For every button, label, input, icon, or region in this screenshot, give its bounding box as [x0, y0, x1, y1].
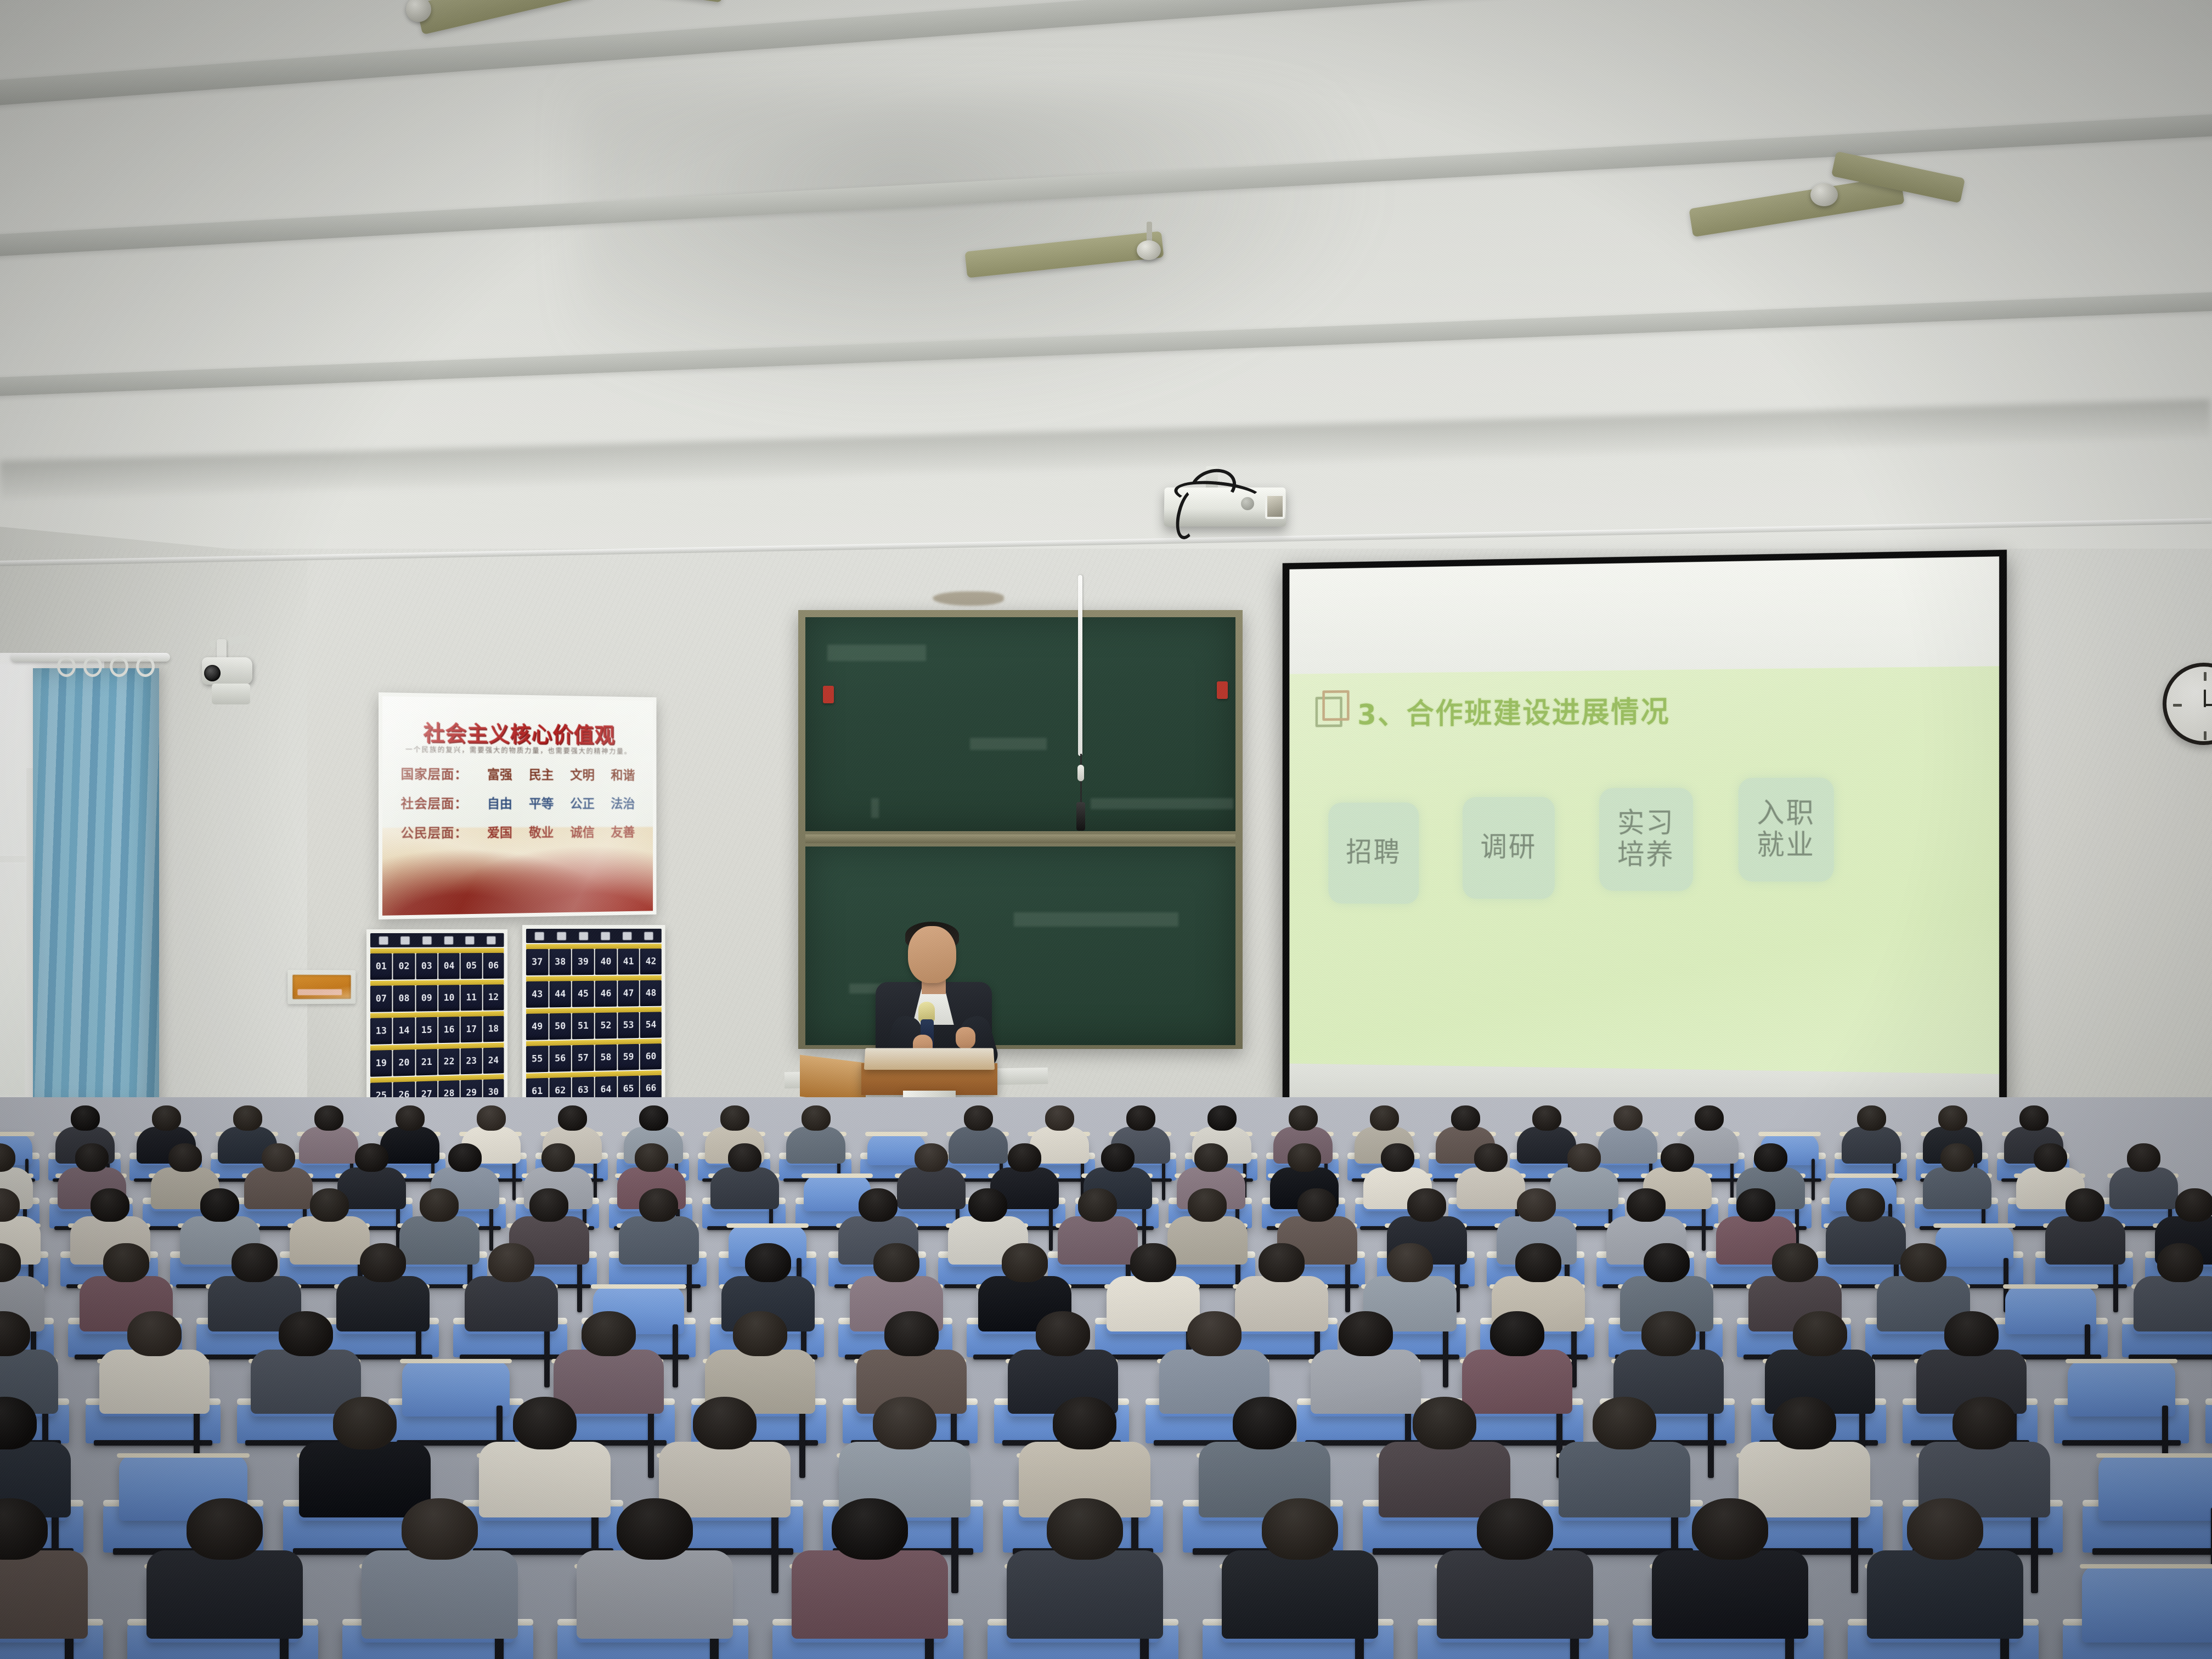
audience-head: [1233, 1397, 1297, 1449]
curtain-grommet: [110, 656, 128, 677]
audience-head: [360, 1243, 405, 1282]
student-chair[interactable]: [2082, 1566, 2212, 1643]
pocket-row: 010203040506: [370, 948, 504, 980]
pocket-cell-row: 495051525354: [526, 1012, 662, 1040]
step-label-line2: 培养: [1617, 839, 1675, 871]
audience-head: [720, 1105, 749, 1131]
audience-torso: [1559, 1442, 1690, 1517]
audience-head: [1002, 1243, 1047, 1282]
audience-head: [448, 1143, 482, 1172]
audience-head: [1773, 1397, 1837, 1449]
desk-frame-leg: [2031, 1508, 2038, 1593]
audience-head: [1339, 1311, 1392, 1356]
audience-head: [1627, 1188, 1666, 1222]
audience-head: [1036, 1311, 1090, 1356]
audience-torso: [1457, 1167, 1525, 1209]
audience-head: [1857, 1105, 1886, 1131]
poster-value: 公正: [565, 793, 600, 812]
audience-torso: [465, 1276, 558, 1331]
speaker-right-hand: [956, 1027, 975, 1049]
audience-head: [2157, 1243, 2203, 1282]
audience-head: [1517, 1188, 1556, 1222]
audience-head: [1736, 1188, 1775, 1222]
desk-frame-bar: [2092, 1548, 2212, 1555]
blackboard: [798, 610, 1243, 1049]
audience-torso: [1739, 1442, 1870, 1517]
desk-frame-leg: [1443, 1324, 1448, 1387]
pocket-slot[interactable]: 15: [416, 1017, 437, 1043]
pocket-slot[interactable]: 57: [572, 1045, 594, 1071]
pocket-row: 434445464748: [526, 975, 662, 1008]
audience-torso: [1842, 1127, 1901, 1164]
audience-head: [1370, 1105, 1399, 1131]
desk-frame-leg: [799, 1406, 805, 1479]
audience-head: [488, 1243, 534, 1282]
audience-head: [1188, 1188, 1227, 1222]
audience-head: [1661, 1143, 1694, 1172]
audience-head: [127, 1311, 181, 1356]
blackboard-clip-right: [1217, 681, 1228, 699]
wall-plaque: [287, 970, 356, 1005]
audience-head: [802, 1105, 831, 1131]
plaque-band: [297, 989, 342, 996]
student-chair[interactable]: [2005, 1286, 2096, 1334]
camera-lens-icon: [204, 665, 221, 681]
student-chair[interactable]: [2098, 1455, 2212, 1521]
audience-head: [1938, 1105, 1967, 1131]
poster-tier-label: 社会层面：: [401, 793, 482, 812]
audience-head: [728, 1143, 761, 1172]
slide-title: 3、合作班建设进展情况: [1357, 688, 1670, 732]
pocket-slot[interactable]: 24: [483, 1047, 504, 1074]
audience-head: [75, 1143, 109, 1172]
curtain-grommet: [136, 656, 155, 677]
audience-torso: [1007, 1550, 1163, 1639]
pocket-slot[interactable]: 19: [370, 1050, 392, 1077]
audience-head: [1008, 1143, 1041, 1172]
desk-frame-leg: [771, 1508, 778, 1593]
desk-frame-leg: [648, 1406, 654, 1479]
pocket-slot[interactable]: 17: [461, 1017, 482, 1043]
audience-head: [617, 1498, 693, 1560]
audience-head: [2019, 1105, 2049, 1131]
audience-torso: [897, 1167, 966, 1209]
pocket-slot[interactable]: 55: [526, 1046, 548, 1073]
audience-head: [2066, 1188, 2104, 1222]
audience-torso: [299, 1127, 358, 1164]
pocket-slot[interactable]: 03: [416, 953, 437, 979]
pocket-cell-row: 434445464748: [526, 980, 662, 1008]
audience-torso: [949, 1127, 1008, 1164]
audience-head: [639, 1188, 678, 1222]
pocket-slot[interactable]: 01: [370, 953, 392, 980]
slide-step-box-recruit: 招聘: [1328, 803, 1419, 904]
pocket-slot[interactable]: 51: [572, 1013, 594, 1039]
pocket-slot[interactable]: 50: [549, 1013, 571, 1040]
audience-head: [314, 1105, 343, 1131]
audience-torso: [1826, 1216, 1906, 1264]
presentation-slide: 3、合作班建设进展情况 招聘 调研 实习 培养 入职 就业: [1289, 666, 1999, 1074]
step-label-line2: 就业: [1757, 830, 1815, 862]
pocket-row: 192021222324: [370, 1043, 504, 1077]
audience-head: [1900, 1243, 1946, 1282]
pocket-slot[interactable]: 44: [549, 981, 571, 1007]
window-curtain[interactable]: [33, 668, 159, 1113]
pocket-row: 495051525354: [526, 1007, 662, 1040]
audience-head: [1387, 1243, 1432, 1282]
audience-head: [582, 1311, 635, 1356]
pocket-slot[interactable]: 54: [640, 1012, 662, 1038]
pocket-cell-row: 555657585960: [526, 1043, 662, 1073]
pocket-slot[interactable]: 53: [618, 1012, 639, 1039]
audience-head: [1262, 1498, 1338, 1560]
audience-head: [884, 1311, 938, 1356]
audience-head: [1940, 1143, 1974, 1172]
audience-head: [1846, 1188, 1885, 1222]
desk-frame-leg: [1851, 1508, 1858, 1593]
audience-head: [964, 1105, 993, 1131]
desk-frame-leg: [577, 1258, 582, 1312]
audience-head: [1474, 1143, 1508, 1172]
pocket-slot[interactable]: 60: [640, 1043, 662, 1070]
audience-torso: [1462, 1350, 1573, 1414]
poster-tier-label: 国家层面：: [401, 763, 482, 782]
poster-subtitle: 一个民族的复兴，需要强大的物质力量，也需要强大的精神力量。: [382, 743, 653, 756]
desk-frame-leg: [951, 1508, 958, 1593]
pocket-slot[interactable]: 13: [370, 1018, 392, 1045]
audience-head: [1754, 1143, 1787, 1172]
screen-surface: 3、合作班建设进展情况 招聘 调研 实习 培养 入职 就业: [1289, 556, 1999, 1124]
step-label-line1: 实习: [1617, 808, 1675, 839]
audience-head: [558, 1105, 587, 1131]
pocket-board-header: [370, 933, 504, 947]
audience-head: [477, 1105, 506, 1131]
step-label: 调研: [1480, 832, 1537, 864]
pull-cord-weight[interactable]: [1076, 802, 1085, 831]
audience-head: [1187, 1311, 1241, 1356]
core-values-poster: 社会主义核心价值观 一个民族的复兴，需要强大的物质力量，也需要强大的精神力量。 …: [379, 692, 656, 919]
audience-head: [733, 1311, 787, 1356]
audience-head: [103, 1243, 149, 1282]
pocket-row: 070809101112: [370, 980, 504, 1012]
audience-head: [168, 1143, 202, 1172]
audience-head: [1593, 1397, 1657, 1449]
audience-head: [279, 1311, 332, 1356]
pocket-slot[interactable]: 37: [526, 949, 548, 975]
audience-torso: [1437, 1550, 1593, 1639]
audience-head: [1053, 1397, 1117, 1449]
audience-head: [233, 1105, 262, 1131]
pocket-board-header: [526, 929, 662, 943]
audience-torso: [1107, 1276, 1200, 1331]
audience-torso: [399, 1216, 479, 1264]
desk-frame-leg: [544, 1324, 550, 1387]
audience-head: [1207, 1105, 1237, 1131]
audience-head: [1101, 1143, 1135, 1172]
audience-head: [635, 1143, 668, 1172]
pocket-slot[interactable]: 45: [572, 981, 594, 1007]
audience-torso: [290, 1216, 370, 1264]
curtain-grommet: [57, 656, 76, 677]
audience-torso: [2045, 1216, 2125, 1264]
poster-value: 富强: [482, 764, 517, 783]
audience-head: [1772, 1243, 1818, 1282]
poster-value: 平等: [524, 793, 559, 812]
audience-head: [1288, 1143, 1321, 1172]
audience-head: [1613, 1105, 1643, 1131]
window-mullion-v: [26, 768, 33, 1097]
audience-torso: [1867, 1550, 2023, 1639]
audience-torso: [0, 1550, 88, 1639]
audience-head: [262, 1143, 295, 1172]
desk-frame-leg: [1812, 1159, 1815, 1200]
pocket-slot[interactable]: 05: [461, 953, 482, 979]
pocket-cell-row: 070809101112: [370, 984, 504, 1012]
audience-head: [832, 1498, 908, 1560]
screen-blank-top: [1289, 556, 1999, 679]
audience-head: [1407, 1188, 1446, 1222]
audience-head: [1078, 1188, 1117, 1222]
audience-torso: [1311, 1350, 1421, 1414]
audience-torso: [792, 1550, 948, 1639]
pocket-slot[interactable]: 39: [572, 949, 594, 975]
desk-frame-leg: [489, 1204, 493, 1251]
audience-torso: [710, 1167, 779, 1209]
pocket-slot[interactable]: 12: [483, 984, 504, 1010]
desk-frame-leg: [2113, 1258, 2118, 1312]
desk-frame-leg: [1345, 1258, 1350, 1312]
audience-head: [1047, 1498, 1123, 1560]
student-chair[interactable]: [1936, 1225, 2013, 1267]
security-camera-base: [212, 684, 250, 704]
phone-pocket-organizer-right[interactable]: 3738394041424344454647484950515253545556…: [522, 925, 665, 1118]
audience-head: [232, 1243, 277, 1282]
audience-head: [873, 1397, 937, 1449]
pocket-slot[interactable]: 59: [618, 1044, 639, 1070]
pocket-slot[interactable]: 20: [393, 1049, 415, 1076]
audience-head: [200, 1188, 239, 1222]
pocket-row: 555657585960: [526, 1039, 662, 1073]
audience-head: [187, 1498, 263, 1560]
audience-head: [1477, 1498, 1553, 1560]
audience-head: [1532, 1105, 1561, 1131]
audience-torso: [362, 1550, 518, 1639]
audience-torso: [554, 1350, 664, 1414]
audience-torso: [619, 1216, 699, 1264]
pocket-cell-row: 010203040506: [370, 953, 504, 980]
audience-head: [152, 1105, 181, 1131]
classroom-photo: 社会主义核心价值观 一个民族的复兴，需要强大的物质力量，也需要强大的精神力量。 …: [0, 0, 2212, 1659]
audience-head: [396, 1105, 425, 1131]
poster-row-national: 国家层面： 富强 民主 文明 和谐: [401, 763, 640, 783]
pocket-slot[interactable]: 10: [438, 985, 460, 1011]
audience-head: [1953, 1397, 2017, 1449]
audience-torso: [1222, 1550, 1378, 1639]
phone-pocket-organizer-left[interactable]: 0102030405060708091011121314151617181920…: [366, 929, 507, 1121]
poster-value: 爱国: [482, 822, 517, 841]
desk-frame-leg: [1708, 1406, 1714, 1479]
pocket-board-grid: 0102030405060708091011121314151617181920…: [370, 948, 504, 1109]
audience-head: [1130, 1243, 1176, 1282]
step-label-line1: 入职: [1757, 798, 1815, 830]
audience-head: [529, 1188, 568, 1222]
desk-frame-leg: [673, 1324, 678, 1387]
audience-torso: [299, 1442, 430, 1517]
audience-head: [915, 1143, 948, 1172]
pocket-slot[interactable]: 56: [549, 1045, 571, 1072]
audience-torso: [1167, 1216, 1248, 1264]
poster-row-social: 社会层面： 自由 平等 公正 法治: [401, 793, 640, 812]
audience-head: [355, 1143, 388, 1172]
pocket-row: 373839404142: [526, 944, 662, 975]
audience-torso: [2134, 1276, 2212, 1331]
pocket-slot[interactable]: 40: [595, 949, 617, 975]
audience-head: [1126, 1105, 1155, 1131]
audience-head: [1515, 1243, 1561, 1282]
audience-torso: [1235, 1276, 1329, 1331]
student-desk[interactable]: [2205, 1403, 2212, 1443]
pocket-slot[interactable]: 22: [438, 1048, 460, 1075]
desk-frame-leg: [594, 1159, 597, 1200]
pocket-slot[interactable]: 49: [526, 1013, 548, 1040]
speaker-head: [908, 926, 956, 983]
audience-head: [2034, 1143, 2067, 1172]
pocket-slot[interactable]: 48: [640, 980, 662, 1006]
poster-tier-label: 公民层面：: [401, 822, 482, 842]
audience-torso: [577, 1550, 733, 1639]
audience-torso: [1058, 1216, 1138, 1264]
poster-value: 民主: [524, 764, 559, 783]
pocket-slot[interactable]: 21: [416, 1049, 437, 1075]
audience-head: [1045, 1105, 1074, 1131]
student-chair[interactable]: [402, 1361, 510, 1417]
pocket-slot[interactable]: 23: [461, 1048, 482, 1074]
audience-head: [402, 1498, 478, 1560]
audience-head: [1490, 1311, 1544, 1356]
desk-frame-leg: [1730, 1159, 1734, 1200]
projector-lens-icon: [1265, 494, 1285, 519]
curtain-grommet: [83, 656, 102, 677]
audience-head: [1259, 1243, 1304, 1282]
plaque-face: [292, 975, 351, 999]
pocket-slot[interactable]: 41: [618, 949, 639, 974]
audience-head: [1413, 1397, 1477, 1449]
pull-cord-bead: [1077, 765, 1084, 781]
audience-torso: [786, 1127, 845, 1164]
audience-head: [1567, 1143, 1601, 1172]
audience-head: [71, 1105, 100, 1131]
pocket-slot[interactable]: 38: [549, 949, 571, 975]
audience-head: [513, 1397, 577, 1449]
audience-torso: [479, 1442, 610, 1517]
pocket-slot[interactable]: 04: [438, 953, 460, 979]
poster-value: 诚信: [565, 822, 600, 840]
desk-frame-leg: [512, 1159, 516, 1200]
pocket-cell-row: 373839404142: [526, 949, 662, 975]
audience-head: [1793, 1311, 1847, 1356]
audience-head: [859, 1188, 898, 1222]
audience-torso: [99, 1350, 210, 1414]
pocket-slot[interactable]: 14: [393, 1018, 415, 1044]
audience-head: [1289, 1105, 1318, 1131]
poster-value: 文明: [565, 764, 600, 783]
audience-head: [639, 1105, 668, 1131]
audience-head: [310, 1188, 349, 1222]
audience-torso: [2109, 1167, 2178, 1209]
audience-torso: [1652, 1550, 1808, 1639]
audience-head: [1451, 1105, 1480, 1131]
audience-head: [1692, 1498, 1768, 1560]
audience-torso: [1923, 1167, 1991, 1209]
pocket-slot[interactable]: 16: [438, 1017, 460, 1043]
pocket-slot[interactable]: 02: [393, 953, 415, 980]
audience-head: [1381, 1143, 1414, 1172]
pocket-slot[interactable]: 09: [416, 985, 437, 1012]
audience-torso: [244, 1167, 313, 1209]
audience-head: [1644, 1243, 1689, 1282]
audience-head: [2175, 1188, 2212, 1222]
audience-head: [1695, 1105, 1724, 1131]
audience-head: [91, 1188, 129, 1222]
desk-frame-leg: [1162, 1159, 1165, 1200]
slide-step-row: 招聘 调研 实习 培养 入职 就业: [1328, 801, 1977, 906]
poster-value: 和谐: [606, 765, 640, 783]
audience-head: [1297, 1188, 1336, 1222]
audience-head: [1194, 1143, 1228, 1172]
audience-head: [873, 1243, 919, 1282]
pocket-slot[interactable]: 46: [595, 980, 617, 1007]
student-chair[interactable]: [2068, 1361, 2176, 1417]
poster-value: 自由: [482, 793, 517, 811]
slide-step-box-employment: 入职 就业: [1739, 777, 1834, 882]
audience-head: [968, 1188, 1007, 1222]
podium-surface: [864, 1048, 995, 1070]
wall-paint-patch: [933, 591, 1004, 606]
audience-head: [1641, 1311, 1695, 1356]
audience-head: [693, 1397, 757, 1449]
desk-frame-leg: [1049, 1204, 1053, 1251]
projection-screen: 3、合作班建设进展情况 招聘 调研 实习 培养 入职 就业: [1283, 550, 2007, 1132]
pocket-slot[interactable]: 52: [595, 1013, 617, 1039]
audience-torso: [380, 1127, 439, 1164]
pocket-cell-row: 192021222324: [370, 1047, 504, 1076]
audience-head: [1907, 1498, 1983, 1560]
audience-torso: [336, 1276, 430, 1331]
blackboard-clip-left: [823, 686, 834, 703]
pocket-slot[interactable]: 43: [526, 981, 548, 1008]
blackboard-lower-panel: [805, 847, 1235, 1045]
audience-head: [420, 1188, 459, 1222]
audience-torso: [1550, 1167, 1618, 1209]
audience-head: [541, 1143, 575, 1172]
slide-step-box-internship: 实习 培养: [1599, 788, 1693, 891]
blackboard-chalk-rail: [805, 834, 1235, 843]
pocket-slot[interactable]: 47: [618, 980, 639, 1007]
pocket-slot[interactable]: 58: [595, 1045, 617, 1071]
poster-value: 法治: [606, 793, 640, 812]
screen-pull-cord[interactable]: [1078, 575, 1082, 756]
pocket-slot[interactable]: 08: [393, 985, 415, 1012]
blackboard-upper-panel: [805, 617, 1235, 831]
pocket-slot[interactable]: 42: [640, 949, 662, 974]
pocket-slot[interactable]: 18: [483, 1016, 504, 1042]
pocket-cell-row: 131415161718: [370, 1016, 504, 1045]
audience-head: [2127, 1143, 2160, 1172]
pocket-slot[interactable]: 11: [461, 985, 482, 1011]
pocket-slot[interactable]: 07: [370, 986, 392, 1012]
audience-torso: [146, 1550, 303, 1639]
pocket-slot[interactable]: 06: [483, 953, 504, 979]
